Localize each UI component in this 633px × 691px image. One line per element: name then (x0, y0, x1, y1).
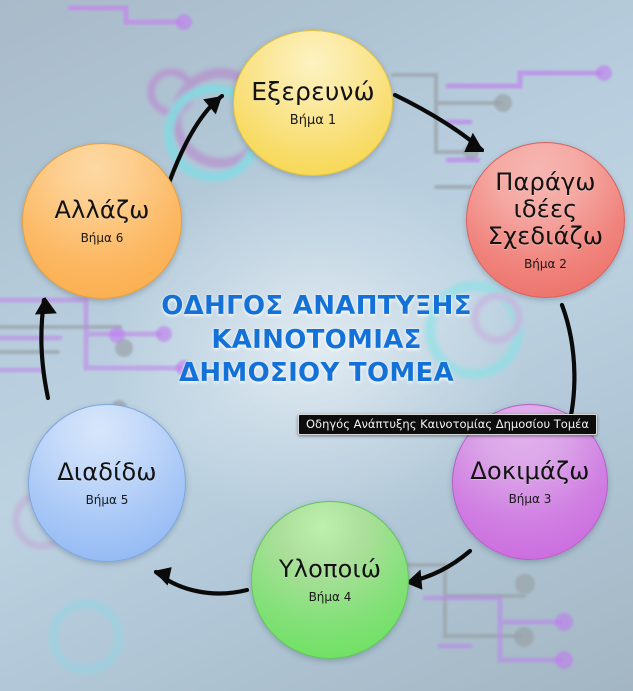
step-node-2-title-line3: Σχεδιάζω (488, 222, 603, 250)
step-node-2-title: Παράγω ιδέες Σχεδιάζω (488, 169, 603, 250)
page-title: ΟΔΗΓΟΣ ΑΝΑΠΤΥΞΗΣ ΚΑΙΝΟΤΟΜΙΑΣ ΔΗΜΟΣΙΟΥ ΤΟ… (120, 290, 513, 391)
step-node-4-step: Βήμα 4 (309, 590, 352, 604)
page-title-line-2: ΚΑΙΝΟΤΟΜΙΑΣ (120, 324, 513, 358)
step-node-1[interactable]: Εξερευνώ Βήμα 1 (233, 30, 393, 176)
step-node-5-step: Βήμα 5 (86, 493, 129, 507)
step-node-2-title-line2: ιδέες (514, 195, 578, 223)
page-title-line-3: ΔΗΜΟΣΙΟΥ ΤΟΜΕΑ (120, 357, 513, 391)
step-node-4-title: Υλοποιώ (279, 556, 381, 583)
step-node-1-title: Εξερευνώ (251, 78, 375, 106)
step-node-2-title-line1: Παράγω (495, 168, 595, 196)
step-node-3-step: Βήμα 3 (509, 492, 552, 506)
step-node-1-step: Βήμα 1 (290, 113, 336, 128)
step-node-5-title: Διαδίδω (57, 459, 156, 486)
step-node-4[interactable]: Υλοποιώ Βήμα 4 (251, 501, 409, 659)
step-node-6-title: Αλλάζω (55, 197, 150, 224)
step-node-6-step: Βήμα 6 (81, 231, 124, 245)
step-node-5[interactable]: Διαδίδω Βήμα 5 (28, 404, 186, 562)
diagram-canvas: Εξερευνώ Βήμα 1 Παράγω ιδέες Σχεδιάζω Βή… (0, 0, 633, 691)
page-title-line-1: ΟΔΗΓΟΣ ΑΝΑΠΤΥΞΗΣ (120, 290, 513, 324)
arrow-5-to-6 (41, 300, 48, 398)
step-node-2[interactable]: Παράγω ιδέες Σχεδιάζω Βήμα 2 (466, 142, 625, 298)
step-node-6[interactable]: Αλλάζω Βήμα 6 (22, 143, 182, 299)
step-node-2-step: Βήμα 2 (524, 257, 567, 271)
tooltip: Οδηγός Ανάπτυξης Καινοτομίας Δημοσίου Το… (298, 414, 597, 435)
step-node-3-title: Δοκιμάζω (470, 458, 589, 485)
